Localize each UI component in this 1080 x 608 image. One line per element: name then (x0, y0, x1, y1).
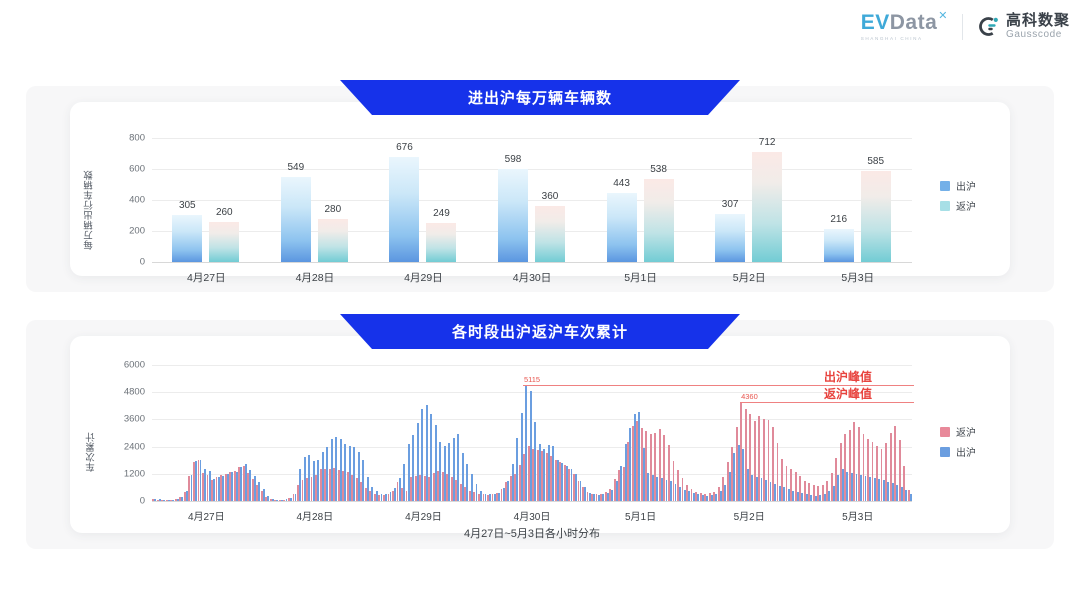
chart2-hour-bar-ret[interactable] (903, 466, 905, 501)
chart2-hour-bar-ret[interactable] (311, 477, 313, 501)
chart2-hour-bar-ret[interactable] (731, 447, 733, 501)
chart2-hour-bar-ret[interactable] (464, 487, 466, 501)
legend-label: 出沪 (956, 178, 976, 193)
chart2-hour-bar-ret[interactable] (410, 477, 412, 501)
chart2-hour-bar-ret[interactable] (247, 473, 249, 501)
chart2-hour-bar-ret[interactable] (274, 500, 276, 501)
chart1-bar-value: 260 (201, 207, 247, 218)
chart2-hour-bar-ret[interactable] (790, 469, 792, 501)
chart2-hour-bar-ret[interactable] (302, 480, 304, 501)
gausscode-logo: 高科数聚 Gausscode (977, 13, 1070, 40)
chart1-bar-value: 360 (527, 191, 573, 202)
chart2-hour-bar-ret[interactable] (600, 494, 602, 501)
chart2-hour-bar-ret[interactable] (324, 469, 326, 501)
chart2-hour-bar-ret[interactable] (166, 500, 168, 501)
chart2-hour-bar-ret[interactable] (804, 481, 806, 501)
legend-swatch-icon (940, 427, 950, 437)
chart2-hour-bar-ret[interactable] (768, 420, 770, 501)
chart2-hour-bar-ret[interactable] (758, 416, 760, 501)
chart2-hour-bar-ret[interactable] (401, 488, 403, 501)
chart1-bar[interactable] (535, 206, 565, 262)
chart2-hour-bar-ret[interactable] (455, 480, 457, 501)
chart2-x-label: 4月28日 (297, 508, 334, 523)
chart2-hour-bar-ret[interactable] (320, 469, 322, 501)
gausscode-mark-icon (977, 15, 1000, 38)
chart2-hour-bar-ret[interactable] (265, 497, 267, 501)
chart2-hour-bar-ret[interactable] (424, 476, 426, 501)
chart2-hour-bar-ret[interactable] (795, 472, 797, 501)
chart2-hour-bar-ret[interactable] (840, 443, 842, 501)
chart2-hour-bar-ret[interactable] (632, 426, 634, 501)
chart2-hour-bar-ret[interactable] (844, 434, 846, 501)
chart2-hour-bar-ret[interactable] (704, 494, 706, 501)
section2-title: 各时段出沪返沪车次累计 (452, 321, 628, 342)
chart2-hour-bar-ret[interactable] (532, 449, 534, 501)
chart2-hour-bar-ret[interactable] (374, 494, 376, 501)
chart2-x-label: 4月30日 (514, 508, 551, 523)
chart2-hour-bar-ret[interactable] (492, 494, 494, 501)
chart2-hour-bar-ret[interactable] (283, 500, 285, 501)
chart1-x-label: 4月28日 (296, 270, 335, 285)
chart2-hour-bar-ret[interactable] (596, 494, 598, 501)
chart2-hour-bar-ret[interactable] (288, 498, 290, 501)
chart2-hour-bar-ret[interactable] (369, 491, 371, 501)
chart2-hour-bar-ret[interactable] (279, 500, 281, 501)
chart2-hour-bar-ret[interactable] (216, 477, 218, 501)
chart2-hour-bar-ret[interactable] (872, 442, 874, 501)
chart2-y-axis-label: 车次累计 (85, 412, 99, 472)
chart2-hour-bar-ret[interactable] (668, 445, 670, 501)
legend-swatch-icon (940, 447, 950, 457)
chart2-hour-bar-ret[interactable] (193, 462, 195, 501)
chart2-hour-bar-ret[interactable] (605, 492, 607, 501)
chart2-hour-bar-ret[interactable] (519, 465, 521, 501)
chart2-y-tick: 2400 (98, 441, 145, 452)
chart2-hour-bar-ret[interactable] (157, 500, 159, 501)
chart1-x-label: 4月29日 (404, 270, 443, 285)
evdata-ev-text: EV (861, 12, 890, 33)
chart2-hour-bar-ret[interactable] (460, 484, 462, 501)
chart2-hour-bar-ret[interactable] (813, 485, 815, 501)
chart2-x-label: 4月27日 (188, 508, 225, 523)
chart2-hour-bar-ret[interactable] (867, 439, 869, 501)
chart2-hour-bar-ret[interactable] (469, 491, 471, 501)
chart2-hour-bar-ret[interactable] (573, 474, 575, 501)
chart2-hour-bar-ret[interactable] (623, 467, 625, 501)
chart2-hour-bar-ret[interactable] (559, 462, 561, 501)
chart2-hour-bar-ret[interactable] (329, 469, 331, 501)
chart2-hour-bar-ret[interactable] (650, 434, 652, 501)
chart2-hour-bar-ret[interactable] (297, 485, 299, 501)
evdata-data-text: Data (890, 12, 938, 33)
chart1-y-axis-label: 每万辆出行车辆数 (83, 150, 97, 250)
legend-item-ret[interactable]: 返沪 (940, 198, 976, 213)
chart2-y-tick: 1200 (98, 468, 145, 479)
chart2-peak-value: 5115 (524, 375, 540, 384)
chart2-hour-bar-ret[interactable] (152, 499, 154, 501)
chart1-bar[interactable] (498, 169, 528, 262)
chart2-hour-bar-ret[interactable] (722, 477, 724, 501)
chart2-hour-bar-ret[interactable] (682, 478, 684, 501)
chart2-hour-bar-ret[interactable] (740, 402, 742, 501)
legend-label: 返沪 (956, 198, 976, 213)
chart2-hour-bar-ret[interactable] (179, 497, 181, 501)
chart2-hour-bar-ret[interactable] (772, 427, 774, 501)
chart1-bar-value: 249 (418, 208, 464, 219)
chart2-hour-bar-ret[interactable] (885, 443, 887, 501)
chart2-hour-bar-ret[interactable] (342, 471, 344, 501)
x-mark-icon: ✕ (938, 11, 948, 22)
chart2-hour-bar-ret[interactable] (677, 470, 679, 501)
chart1-y-tick: 600 (100, 164, 145, 175)
chart2-hour-bar-ret[interactable] (261, 491, 263, 501)
chart2-hour-bar-ret[interactable] (360, 482, 362, 501)
chart2-hour-bar-ret[interactable] (591, 494, 593, 501)
chart2-hour-bar-ret[interactable] (483, 494, 485, 501)
chart2-x-label: 5月2日 (734, 508, 765, 523)
chart2-hour-bar-ret[interactable] (659, 429, 661, 501)
chart2-hour-bar-ret[interactable] (378, 495, 380, 501)
chart2-legend: 返沪 出沪 (940, 424, 976, 459)
chart1-bar[interactable] (281, 177, 311, 262)
section1-banner: 进出沪每万辆车辆数 (340, 80, 740, 115)
legend-label: 出沪 (956, 444, 976, 459)
chart2-hour-bar-ret[interactable] (184, 492, 186, 501)
chart2-hour-bar-ret[interactable] (392, 491, 394, 501)
chart2-hour-bar-ret[interactable] (487, 495, 489, 501)
chart2-hour-bar-ret[interactable] (745, 409, 747, 501)
chart2-x-label: 4月29日 (405, 508, 442, 523)
chart1-bar-value: 280 (310, 204, 356, 215)
chart2-hour-bar-ret[interactable] (645, 431, 647, 501)
chart2-x-label: 5月3日 (842, 508, 873, 523)
chart2-hour-bar-ret[interactable] (347, 472, 349, 501)
chart1-bar-value: 676 (381, 142, 427, 153)
chart2-peak-line (740, 402, 914, 403)
chart2-hour-bar-ret[interactable] (808, 483, 810, 501)
chart1-y-tick: 200 (100, 226, 145, 237)
chart2-hour-bar-ret[interactable] (170, 500, 172, 501)
chart2-hour-bar-ret[interactable] (876, 446, 878, 501)
chart2-hour-bar-ret[interactable] (523, 454, 525, 501)
chart2-peak-value: 4360 (741, 392, 758, 401)
chart2-y-tick: 4800 (98, 387, 145, 398)
chart2-hour-bar-ret[interactable] (207, 475, 209, 501)
chart2-hour-bar-ret[interactable] (415, 476, 417, 501)
chart2-hour-bar-ret[interactable] (578, 481, 580, 501)
legend-item-out[interactable]: 出沪 (940, 178, 976, 193)
legend-swatch-icon (940, 181, 950, 191)
chart2-hour-bar-ret[interactable] (609, 489, 611, 501)
legend-item-ret[interactable]: 返沪 (940, 424, 976, 439)
chart2-hour-bar-ret[interactable] (822, 485, 824, 501)
chart2-hour-bar-ret[interactable] (831, 473, 833, 501)
chart1-y-tick: 400 (100, 195, 145, 206)
chart2-hour-bar-ret[interactable] (555, 460, 557, 501)
chart2-hour-bar-ret[interactable] (442, 472, 444, 501)
chart2-hour-bar-ret[interactable] (473, 492, 475, 501)
chart2-hour-bar-ret[interactable] (736, 427, 738, 501)
chart2-hour-bar-ret[interactable] (781, 459, 783, 501)
legend-label: 返沪 (956, 424, 976, 439)
chart2-hour-bar-ret[interactable] (433, 473, 435, 501)
chart2-hour-bar-ret[interactable] (175, 499, 177, 501)
chart1-bar[interactable] (318, 219, 348, 262)
chart2-hour-bar-ret[interactable] (636, 421, 638, 501)
chart2-hour-bar-ret[interactable] (161, 500, 163, 501)
legend-item-out[interactable]: 出沪 (940, 444, 976, 459)
chart2-hour-bar-ret[interactable] (550, 456, 552, 501)
chart2-hour-bar-ret[interactable] (496, 493, 498, 501)
chart1-bar-value: 585 (853, 156, 899, 167)
chart2-hour-bar-ret[interactable] (881, 449, 883, 501)
chart2-y-tick: 0 (98, 496, 145, 507)
chart2-hour-bar-ret[interactable] (243, 466, 245, 501)
chart1-bar-value: 549 (273, 162, 319, 173)
chart1-x-label: 5月2日 (733, 270, 766, 285)
chart2-hour-bar-ret[interactable] (451, 477, 453, 501)
chart2-hour-bar-ret[interactable] (528, 446, 530, 501)
chart2-hour-bar-ret[interactable] (252, 479, 254, 501)
chart2-hour-bar-ret[interactable] (229, 472, 231, 501)
chart2-hour-bar-ret[interactable] (306, 478, 308, 501)
chart2-caption: 4月27日~5月3日各小时分布 (464, 525, 600, 541)
chart2-hour-bar-ret[interactable] (238, 467, 240, 501)
chart1-bar-value: 712 (744, 137, 790, 148)
chart2-hour-bar-ret[interactable] (564, 465, 566, 501)
chart2-hour-bar-ret[interactable] (899, 440, 901, 501)
chart1-y-tick: 800 (100, 133, 145, 144)
chart2-hour-bar-ret[interactable] (501, 489, 503, 501)
chart2-axis-line (152, 501, 912, 502)
chart2-hour-bar-ret[interactable] (351, 475, 353, 501)
chart2-hour-bar-ret[interactable] (786, 466, 788, 501)
chart2-hour-bar-ret[interactable] (220, 475, 222, 501)
chart2-hour-bar-ret[interactable] (894, 426, 896, 501)
chart2-hour-bar-ret[interactable] (225, 474, 227, 501)
chart2-hour-bar-ret[interactable] (541, 451, 543, 501)
chart1-bar[interactable] (644, 179, 674, 262)
chart2-hour-bar-ret[interactable] (397, 482, 399, 501)
chart2-hour-bar-ret[interactable] (505, 482, 507, 501)
chart2-hour-bar-ret[interactable] (614, 479, 616, 501)
chart1-bar-value: 216 (816, 214, 862, 225)
chart1-x-label: 5月1日 (624, 270, 657, 285)
chart2-y-tick: 6000 (98, 360, 145, 371)
evdata-wordmark: EVData✕ (861, 12, 948, 33)
chart1-bar[interactable] (861, 171, 891, 262)
brand-logos: EVData✕ SHANGHAI CHINA 高科数聚 Gausscode (861, 12, 1070, 41)
chart2-hour-bar-ret[interactable] (718, 487, 720, 501)
logo-divider (962, 14, 963, 40)
chart2-y-tick: 3600 (98, 414, 145, 425)
chart2-hour-bar-ret[interactable] (890, 433, 892, 501)
chart2-hour-bar-ret[interactable] (388, 494, 390, 501)
chart2-hour-bar-ret[interactable] (763, 419, 765, 501)
chart2-hour-bar-ret[interactable] (293, 494, 295, 501)
chart2-hour-bar-ret[interactable] (356, 478, 358, 501)
chart2-hour-bar-ret[interactable] (198, 460, 200, 501)
chart1-y-tick: 0 (100, 257, 145, 268)
chart2-hour-bar-ret[interactable] (663, 435, 665, 501)
chart2-hour-bar-ret[interactable] (333, 468, 335, 501)
gausscode-cn-name: 高科数聚 (1006, 13, 1070, 28)
chart2-hour-bar-ret[interactable] (406, 491, 408, 501)
chart1-bar[interactable] (389, 157, 419, 262)
chart1-bar[interactable] (172, 215, 202, 262)
chart2-hour-bar-ret[interactable] (835, 458, 837, 501)
chart2-hour-bar-ret[interactable] (365, 488, 367, 501)
chart1-bar[interactable] (607, 193, 637, 262)
gausscode-en-name: Gausscode (1006, 30, 1070, 40)
chart2-hour-bar-ret[interactable] (546, 453, 548, 502)
chart2-hour-bar-ret[interactable] (754, 421, 756, 501)
chart2-hour-bar-ret[interactable] (437, 471, 439, 501)
chart2-hour-bar-ret[interactable] (188, 476, 190, 501)
gausscode-text: 高科数聚 Gausscode (1006, 13, 1070, 40)
chart1-bar[interactable] (824, 229, 854, 262)
chart2-hour-bar-ret[interactable] (211, 480, 213, 501)
chart2-hour-bar-ret[interactable] (618, 470, 620, 501)
chart2-hour-bar-ret[interactable] (817, 486, 819, 501)
chart1-bar[interactable] (426, 223, 456, 262)
chart2-x-label: 5月1日 (625, 508, 656, 523)
chart2-hour-bar-ret[interactable] (428, 477, 430, 501)
chart2-hour-bar-ret[interactable] (641, 428, 643, 501)
chart2-hour-bar-ret[interactable] (853, 422, 855, 501)
chart2-hour-bar-ret[interactable] (695, 492, 697, 501)
chart1-x-label: 4月30日 (513, 270, 552, 285)
chart1-legend: 出沪 返沪 (940, 178, 976, 213)
chart2-hour-bar-ret[interactable] (749, 414, 751, 501)
evdata-tagline: SHANGHAI CHINA (861, 36, 923, 41)
chart2-hour-bar-ret[interactable] (713, 492, 715, 501)
chart1-bar-value: 598 (490, 154, 536, 165)
chart2-hour-bar-ret[interactable] (582, 487, 584, 501)
chart2-hour-bar-ret[interactable] (709, 493, 711, 501)
chart2-hour-bar-ret[interactable] (686, 485, 688, 501)
chart2-hour-bar-ret[interactable] (256, 485, 258, 501)
chart2-hour-bar-ret[interactable] (799, 476, 801, 501)
chart2-hour-bar-ret[interactable] (202, 473, 204, 501)
evdata-logo: EVData✕ SHANGHAI CHINA (861, 12, 948, 41)
chart2-hour-bar-out[interactable] (910, 494, 912, 501)
chart2-hour-bar-ret[interactable] (510, 476, 512, 501)
dashboard-page: EVData✕ SHANGHAI CHINA 高科数聚 Gausscode 进出… (0, 0, 1080, 608)
chart2-hour-bar-ret[interactable] (270, 499, 272, 501)
chart1-bar[interactable] (715, 214, 745, 262)
chart2-hour-bar-ret[interactable] (700, 493, 702, 501)
chart1-bar-value: 538 (636, 164, 682, 175)
chart2-hour-bar-ret[interactable] (446, 474, 448, 501)
chart2-hour-bar-ret[interactable] (858, 427, 860, 501)
chart2-hour-bar-ret[interactable] (627, 442, 629, 501)
chart2-hour-bar-ret[interactable] (478, 494, 480, 501)
chart2-peak-label: 返沪峰值 (824, 385, 872, 402)
chart1-axis-line (152, 262, 912, 263)
chart2-peak-label: 出沪峰值 (824, 368, 872, 385)
section1-title: 进出沪每万辆车辆数 (468, 87, 612, 108)
chart2-hour-bar-ret[interactable] (863, 434, 865, 501)
chart2-hour-bar-ret[interactable] (654, 433, 656, 501)
chart2-hour-bar-ret[interactable] (537, 450, 539, 501)
chart2-hour-bar-ret[interactable] (514, 474, 516, 501)
chart1-x-label: 5月3日 (841, 270, 874, 285)
chart2-hour-bar-ret[interactable] (908, 490, 910, 501)
chart1-x-label: 4月27日 (187, 270, 226, 285)
section2-banner: 各时段出沪返沪车次累计 (340, 314, 740, 349)
chart2-hour-bar-ret[interactable] (727, 462, 729, 501)
chart2-hour-bar-ret[interactable] (587, 492, 589, 501)
chart2-hour-bar-ret[interactable] (419, 475, 421, 501)
chart1-bar-value: 307 (707, 199, 753, 210)
chart2-hour-bar-ret[interactable] (383, 495, 385, 501)
chart2-hour-bar-ret[interactable] (826, 481, 828, 501)
chart1-bar[interactable] (209, 222, 239, 262)
chart2-hour-bar-ret[interactable] (777, 443, 779, 501)
chart2-hour-bar-ret[interactable] (673, 461, 675, 501)
chart2-hour-bar-ret[interactable] (691, 489, 693, 501)
legend-swatch-icon (940, 201, 950, 211)
chart2-hour-bar-ret[interactable] (568, 469, 570, 501)
chart2-hour-bar-ret[interactable] (849, 430, 851, 501)
chart2-hour-bar-ret[interactable] (338, 470, 340, 501)
chart1-bar[interactable] (752, 152, 782, 262)
chart1-bar-value: 443 (599, 178, 645, 189)
chart2-hour-bar-ret[interactable] (234, 471, 236, 501)
chart2-hour-bar-ret[interactable] (315, 475, 317, 501)
